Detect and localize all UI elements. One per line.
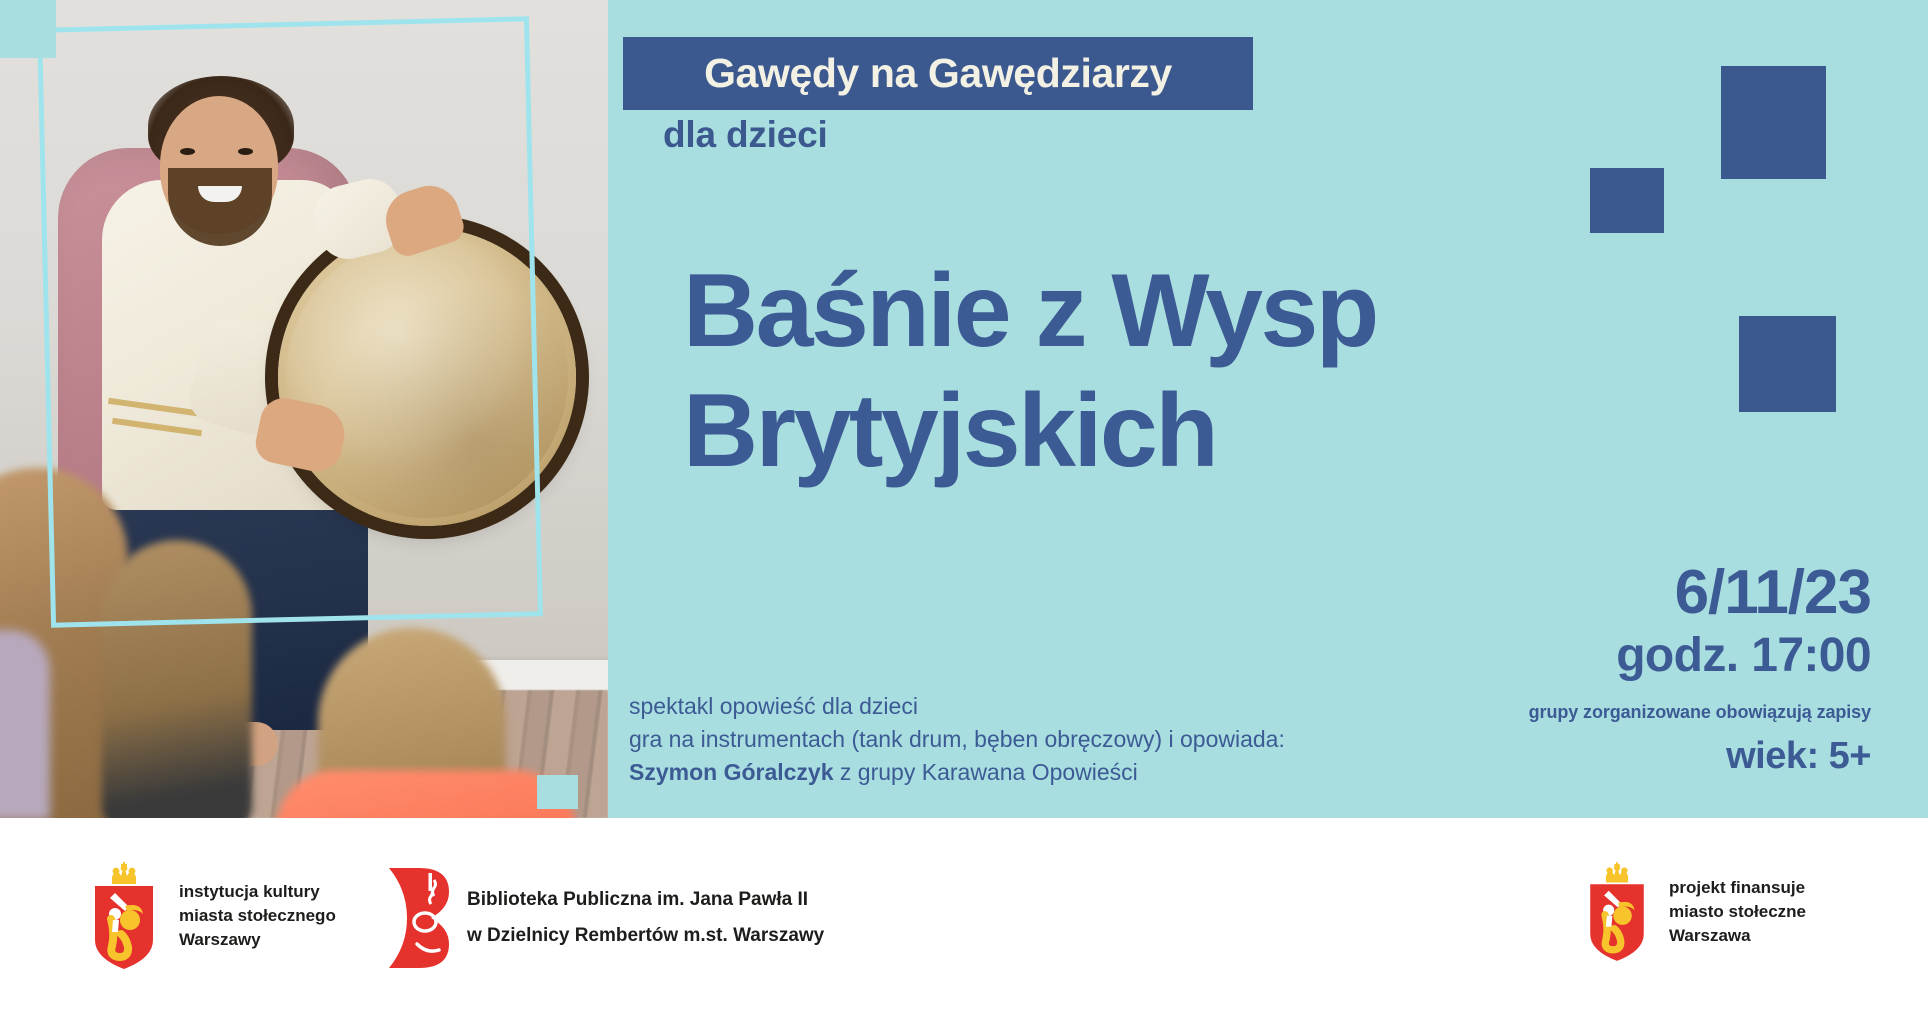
decorative-square-large-bottom bbox=[1739, 316, 1836, 412]
event-time: godz. 17:00 bbox=[1529, 628, 1871, 685]
logo-biblioteka: Biblioteka Publiczna im. Jana Pawła II w… bbox=[385, 866, 824, 970]
footer-bar: instytucja kultury miasta stołecznego Wa… bbox=[0, 818, 1928, 1010]
logo3-line1: projekt finansuje bbox=[1669, 876, 1806, 900]
logo-warsaw-institution: instytucja kultury miasta stołecznego Wa… bbox=[85, 862, 336, 970]
photo-child-foreground-middle bbox=[102, 540, 252, 818]
logo-warsaw-funder-text: projekt finansuje miasto stołeczne Warsz… bbox=[1669, 876, 1806, 948]
logo2-line2: w Dzielnicy Rembertów m.st. Warszawy bbox=[467, 918, 824, 954]
title-line-1: Baśnie z Wysp bbox=[683, 252, 1503, 372]
logo-warsaw-funder: projekt finansuje miasto stołeczne Warsz… bbox=[1581, 862, 1806, 962]
audience-subtitle: dla dzieci bbox=[663, 114, 828, 156]
photo-performer-eye-left bbox=[180, 148, 195, 155]
photo-performer-eye-right bbox=[238, 148, 253, 155]
logo2-line1: Biblioteka Publiczna im. Jana Pawła II bbox=[467, 882, 824, 918]
event-date: 6/11/23 bbox=[1529, 560, 1871, 626]
event-details: 6/11/23 godz. 17:00 grupy zorganizowane … bbox=[1529, 560, 1871, 778]
logo3-line3: Warszawa bbox=[1669, 924, 1806, 948]
page-title: Baśnie z Wysp Brytyjskich bbox=[683, 252, 1503, 491]
photo-frame-drum bbox=[278, 228, 576, 526]
logo1-line3: Warszawy bbox=[179, 928, 336, 952]
decorative-square-photo-bottom-right bbox=[537, 775, 578, 809]
event-description: spektakl opowieść dla dzieci gra na inst… bbox=[629, 690, 1285, 789]
decorative-square-large-top bbox=[1721, 66, 1826, 179]
decorative-square-photo-top-left bbox=[0, 0, 56, 58]
series-badge-label: Gawędy na Gawędziarzy bbox=[704, 50, 1172, 97]
performer-name: Szymon Góralczyk bbox=[629, 759, 834, 785]
series-badge: Gawędy na Gawędziarzy bbox=[623, 37, 1253, 110]
logo-biblioteka-text: Biblioteka Publiczna im. Jana Pawła II w… bbox=[467, 882, 824, 954]
photo-child-left-shirt bbox=[0, 630, 50, 818]
event-photo bbox=[0, 0, 608, 818]
logo1-line2: miasta stołecznego bbox=[179, 904, 336, 928]
description-line-1: spektakl opowieść dla dzieci bbox=[629, 690, 1285, 723]
photo-child-right-shirt bbox=[276, 770, 576, 818]
title-line-2: Brytyjskich bbox=[683, 372, 1503, 492]
warsaw-coat-of-arms-icon bbox=[1581, 862, 1653, 962]
biblioteka-b-icon bbox=[385, 866, 451, 970]
decorative-square-small bbox=[1590, 168, 1664, 233]
description-line-2: gra na instrumentach (tank drum, bęben o… bbox=[629, 723, 1285, 756]
logo3-line2: miasto stołeczne bbox=[1669, 900, 1806, 924]
age-requirement: wiek: 5+ bbox=[1529, 735, 1871, 778]
description-line-3: Szymon Góralczyk z grupy Karawana Opowie… bbox=[629, 756, 1285, 789]
poster-root: Gawędy na Gawędziarzy dla dzieci Baśnie … bbox=[0, 0, 1928, 1010]
photo-drum-skin bbox=[286, 236, 568, 518]
performer-group: z grupy Karawana Opowieści bbox=[834, 759, 1138, 785]
logo1-line1: instytucja kultury bbox=[179, 880, 336, 904]
registration-note: grupy zorganizowane obowiązują zapisy bbox=[1529, 702, 1871, 723]
main-content-area: Gawędy na Gawędziarzy dla dzieci Baśnie … bbox=[0, 0, 1928, 818]
logo-warsaw-institution-text: instytucja kultury miasta stołecznego Wa… bbox=[179, 880, 336, 952]
warsaw-coat-of-arms-icon bbox=[85, 862, 163, 970]
